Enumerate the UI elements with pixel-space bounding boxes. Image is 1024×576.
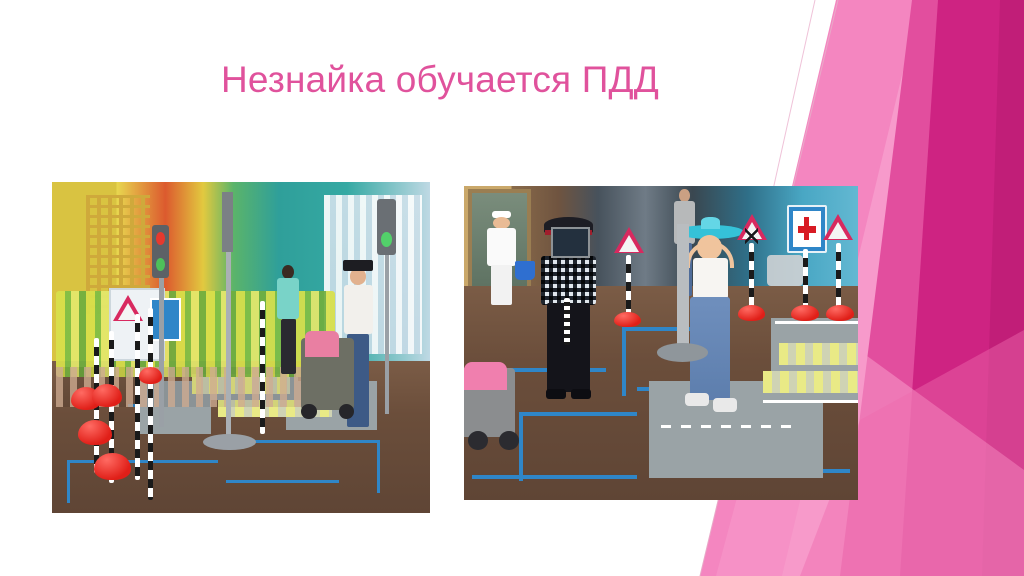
cone-base	[92, 384, 122, 407]
presentation-slide: Незнайка обучается ПДД	[0, 0, 1024, 576]
sign-post	[626, 255, 631, 318]
traffic-light-mast-base	[657, 343, 708, 362]
road-edge-line	[763, 400, 858, 403]
sign-first-aid-station	[787, 205, 826, 253]
child-doctor	[484, 211, 519, 305]
traffic-baton	[564, 298, 569, 345]
blue-sun-hat-crown	[701, 217, 720, 229]
signal-mast	[222, 192, 233, 252]
sign-post	[803, 249, 808, 312]
signal-mast-base	[203, 434, 256, 451]
stroller-wheel	[339, 404, 354, 419]
photo-right[interactable]	[464, 186, 858, 500]
floor-tape	[67, 460, 70, 503]
shoe	[685, 393, 709, 407]
party-hat	[343, 260, 373, 272]
sign-post	[749, 243, 754, 312]
facet-shape-rose	[840, 0, 1024, 576]
cone-base	[94, 453, 132, 479]
blue-bucket	[515, 261, 535, 280]
teacher	[275, 265, 301, 374]
shoe	[713, 398, 737, 412]
lane-dashes	[661, 425, 795, 428]
background-toy-pram	[767, 255, 802, 286]
floor-tape	[67, 460, 218, 463]
slalom-pole	[260, 301, 265, 433]
sign-post	[836, 243, 841, 312]
traffic-light-red-lamp	[156, 232, 166, 245]
cone-base	[738, 305, 766, 321]
facet-shape-deep-magenta	[982, 0, 1024, 576]
crosswalk-zebra	[763, 371, 858, 393]
floor-tape	[519, 412, 637, 416]
traffic-light-pole	[385, 255, 390, 414]
stroller-canopy	[305, 331, 339, 357]
cone-base	[826, 305, 854, 321]
sign-pedestrian-crossing-icon	[150, 298, 180, 341]
floor-tape	[472, 475, 637, 479]
toy-stroller-canopy	[464, 362, 507, 390]
traffic-light-green-lamp	[381, 232, 392, 247]
toy-stroller-wheel	[499, 431, 519, 450]
shoe	[571, 389, 591, 400]
white-top	[693, 258, 728, 299]
cone-base	[791, 305, 819, 321]
slalom-pole	[148, 308, 153, 500]
traffic-light-pole	[159, 278, 164, 427]
slalom-pole	[135, 314, 140, 480]
traffic-light-mast	[677, 224, 689, 350]
red-cross-icon	[798, 226, 816, 232]
sign-crossroads-x	[745, 228, 758, 244]
cone-base	[78, 420, 112, 445]
cone-base	[139, 367, 162, 384]
background-monitor	[551, 227, 590, 258]
floor-tape	[622, 327, 626, 396]
floor-tape	[249, 440, 378, 443]
crosswalk-zebra	[779, 343, 858, 365]
toy-stroller-wheel	[468, 431, 488, 450]
photo-left[interactable]	[52, 182, 430, 513]
floor-tape	[226, 480, 339, 483]
shoe	[546, 389, 566, 400]
facet-shape-magenta	[900, 0, 1024, 576]
floor-tape	[377, 440, 380, 493]
photo-left-scene	[52, 182, 430, 513]
photo-right-scene	[464, 186, 858, 500]
floor-tape	[519, 412, 523, 481]
road-edge-line	[775, 321, 858, 324]
page-title: Незнайка обучается ПДД	[60, 52, 820, 108]
cone-base	[614, 312, 642, 328]
stroller-wheel	[301, 404, 316, 419]
signal-mast-pole	[226, 252, 231, 437]
